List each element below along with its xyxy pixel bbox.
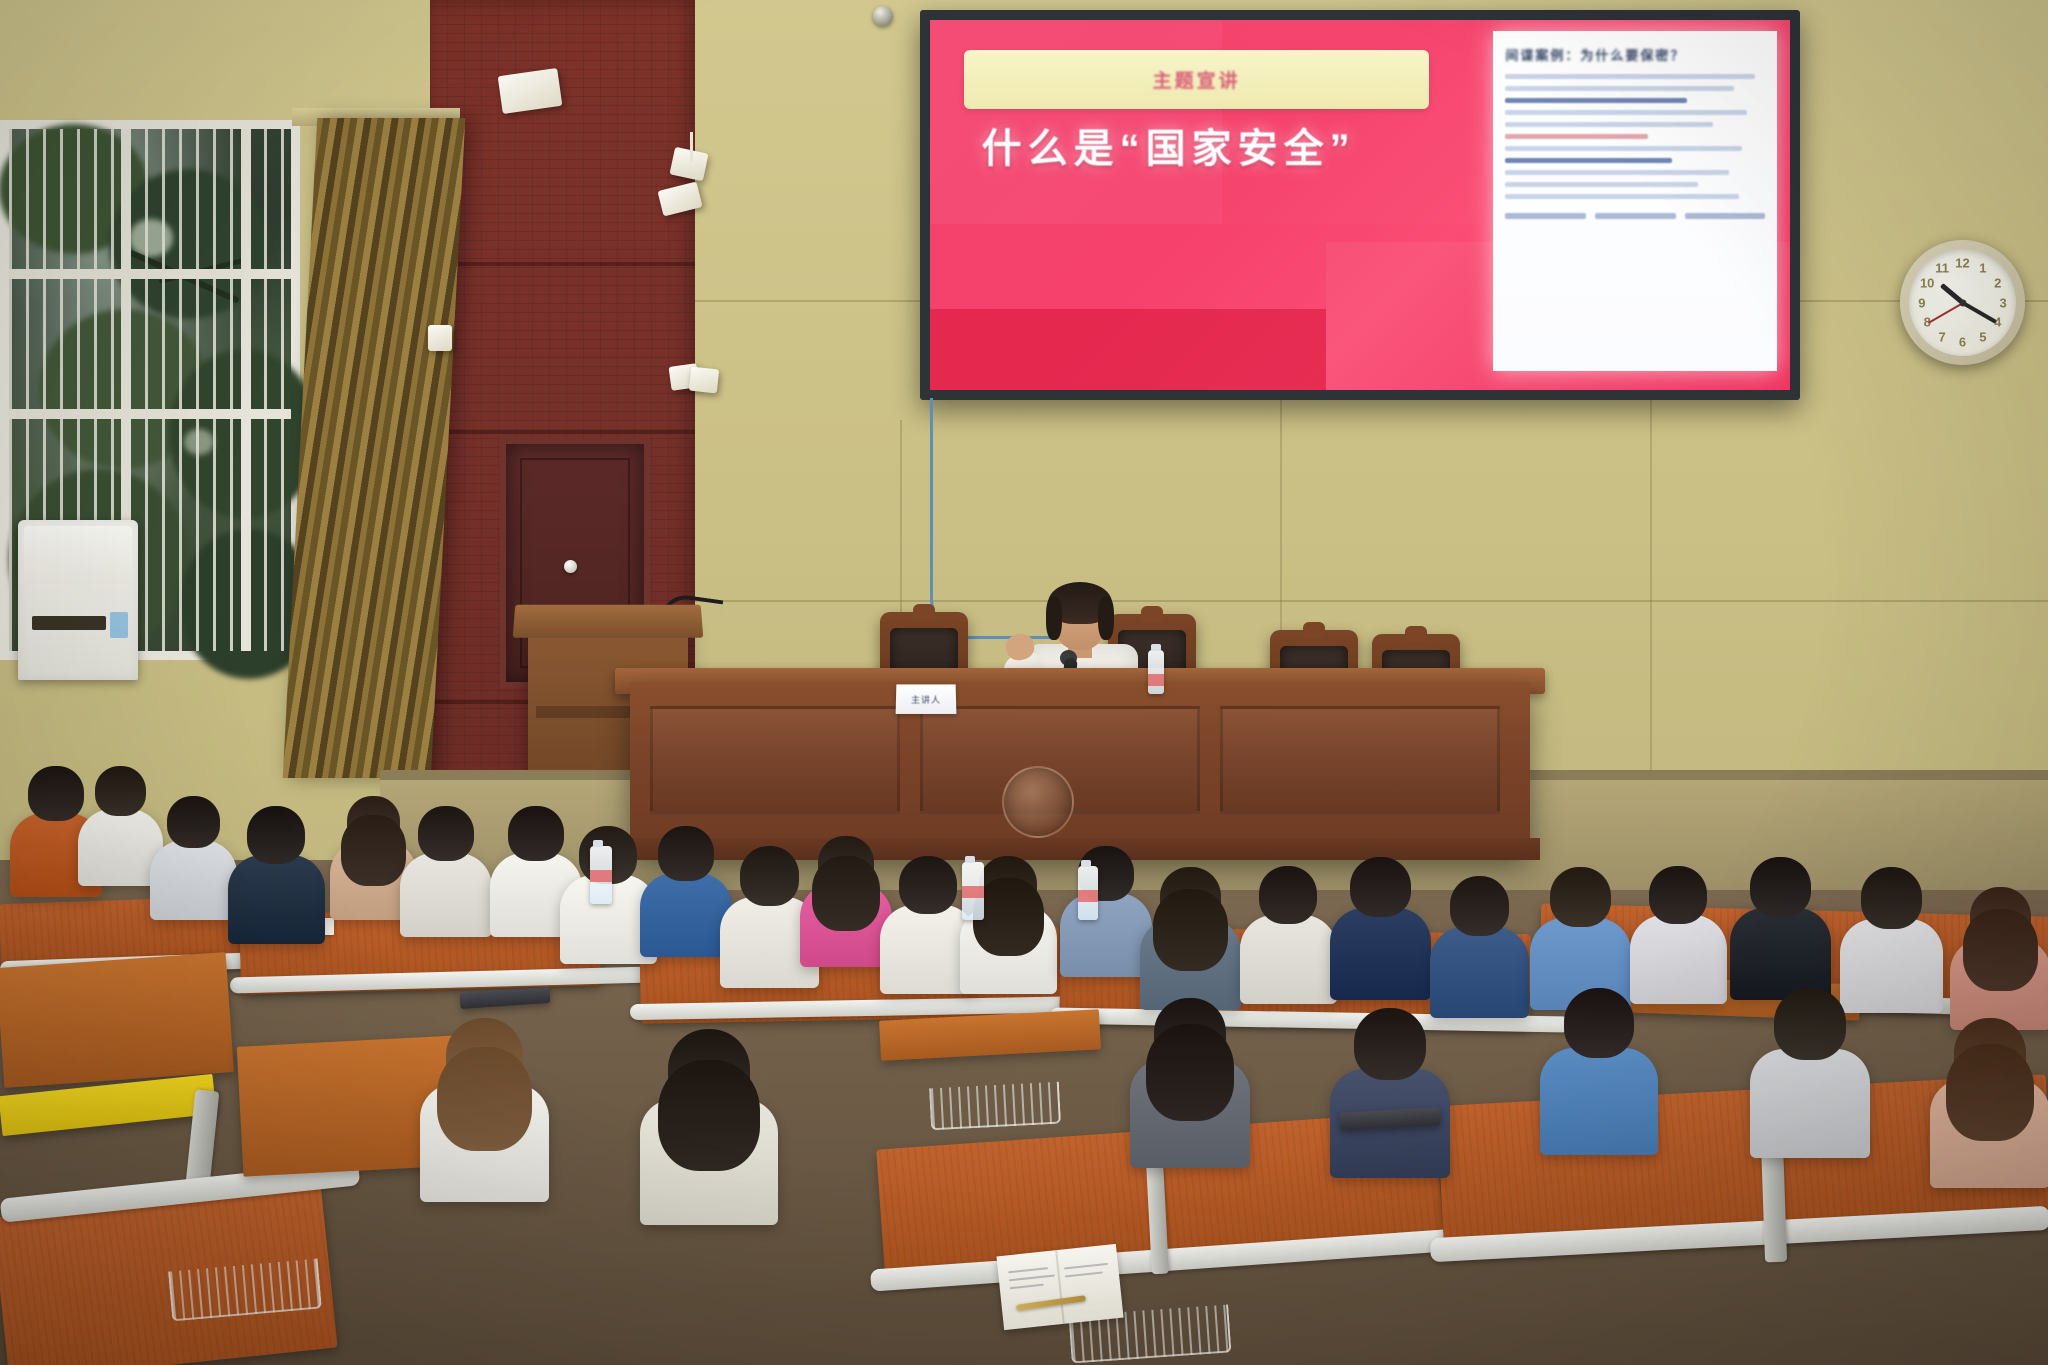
ac-vent bbox=[32, 616, 106, 630]
document-panel-footer bbox=[1505, 213, 1765, 219]
student-long-hair bbox=[1146, 1024, 1235, 1121]
student bbox=[1530, 860, 1631, 992]
window-mullion bbox=[241, 129, 251, 651]
student bbox=[640, 820, 732, 940]
dome-camera-icon bbox=[873, 6, 893, 26]
spot-light-stem bbox=[690, 132, 693, 162]
student bbox=[1130, 990, 1250, 1146]
student bbox=[228, 800, 325, 926]
student bbox=[1930, 1010, 2048, 1166]
student bbox=[1750, 980, 1870, 1136]
student bbox=[1540, 980, 1658, 1134]
student-head bbox=[1350, 857, 1411, 918]
fold-desk bbox=[0, 952, 234, 1088]
student bbox=[1630, 860, 1727, 986]
lectern-top bbox=[513, 605, 704, 638]
ac-top-panel bbox=[24, 526, 132, 584]
student bbox=[1140, 860, 1241, 992]
student-head bbox=[1774, 988, 1846, 1060]
student-torso bbox=[640, 873, 732, 957]
window-mullion bbox=[9, 409, 291, 419]
student-torso bbox=[228, 855, 325, 943]
student-torso bbox=[1060, 893, 1152, 977]
student-head bbox=[658, 826, 713, 881]
student bbox=[1730, 850, 1831, 982]
document-panel-heading: 间谍案例：为什么要保密？ bbox=[1505, 45, 1765, 64]
student-head bbox=[1750, 857, 1811, 918]
student bbox=[1950, 880, 2048, 1012]
clock-center-pin bbox=[1959, 299, 1966, 306]
clock-face: 12 1 2 3 4 5 6 7 8 9 10 11 bbox=[1909, 249, 2016, 356]
student bbox=[800, 830, 892, 950]
floor-air-conditioner bbox=[18, 520, 138, 680]
student-long-hair bbox=[341, 815, 406, 886]
speaker-nameplate: 主讲人 bbox=[896, 684, 957, 714]
student bbox=[1240, 860, 1337, 986]
wall-speaker bbox=[689, 367, 719, 394]
slide-ribbon-text: 主题宣讲 bbox=[1153, 66, 1241, 93]
student-head bbox=[1259, 866, 1317, 924]
student-head bbox=[1861, 867, 1923, 929]
water-bottle[interactable] bbox=[1078, 866, 1098, 920]
student-torso bbox=[400, 853, 492, 937]
ac-label bbox=[110, 612, 128, 638]
under-seat-basket bbox=[929, 1082, 1061, 1131]
slide-ribbon: 主题宣讲 bbox=[964, 50, 1428, 109]
water-bottle[interactable] bbox=[1148, 650, 1164, 694]
student-head bbox=[1649, 866, 1707, 924]
student-long-hair bbox=[1153, 889, 1228, 971]
student-head bbox=[28, 766, 83, 821]
student bbox=[400, 800, 492, 920]
student bbox=[1060, 840, 1152, 960]
water-bottle[interactable] bbox=[962, 862, 984, 920]
student bbox=[1330, 850, 1431, 982]
student-torso bbox=[1330, 908, 1431, 1000]
student bbox=[420, 1010, 549, 1178]
student-long-hair bbox=[658, 1060, 760, 1172]
slide-document-panel: 间谍案例：为什么要保密？ bbox=[1493, 31, 1777, 371]
student bbox=[1330, 1000, 1450, 1156]
clock-second-hand bbox=[1927, 302, 1963, 324]
door-knob-icon[interactable] bbox=[564, 560, 577, 573]
brick-band bbox=[430, 430, 695, 434]
brick-band bbox=[430, 262, 695, 266]
student-long-hair bbox=[1946, 1044, 2035, 1141]
head-table bbox=[630, 682, 1530, 852]
student-head bbox=[1450, 876, 1510, 936]
student-torso bbox=[1240, 915, 1337, 1003]
student-long-hair bbox=[812, 856, 880, 930]
student-head bbox=[740, 846, 800, 906]
student-head bbox=[1564, 988, 1635, 1059]
student-head bbox=[167, 796, 219, 848]
slide-title: 什么是“国家安全” bbox=[982, 116, 1356, 174]
student-torso bbox=[1540, 1048, 1658, 1156]
lecture-hall-photo: 主题宣讲 什么是“国家安全” 间谍案例：为什么要保密？ bbox=[0, 0, 2048, 1365]
student-long-hair bbox=[1963, 909, 2038, 991]
student-head bbox=[1354, 1008, 1426, 1080]
projection-screen: 主题宣讲 什么是“国家安全” 间谍案例：为什么要保密？ bbox=[920, 10, 1800, 400]
projector-cable bbox=[930, 398, 1000, 638]
student-head bbox=[247, 806, 305, 864]
student bbox=[150, 790, 237, 904]
table-emblem-icon bbox=[1002, 766, 1074, 838]
student-head bbox=[418, 806, 473, 861]
student bbox=[1840, 860, 1943, 994]
clock-minute-hand bbox=[1962, 301, 1997, 323]
student bbox=[640, 1020, 778, 1200]
open-notebook[interactable] bbox=[996, 1244, 1123, 1330]
student bbox=[1430, 870, 1529, 1000]
student-torso bbox=[150, 840, 237, 920]
window-mullion bbox=[9, 269, 291, 279]
wall-clock: 12 1 2 3 4 5 6 7 8 9 10 11 bbox=[1900, 240, 2025, 365]
water-bottle[interactable] bbox=[590, 846, 612, 904]
student-head bbox=[899, 856, 957, 914]
student-torso bbox=[1750, 1049, 1870, 1158]
projection-screen-surface: 主题宣讲 什么是“国家安全” 间谍案例：为什么要保密？ bbox=[930, 20, 1790, 390]
wall-seam bbox=[695, 600, 2048, 602]
student-head bbox=[508, 806, 563, 861]
nameplate-text: 主讲人 bbox=[911, 693, 941, 706]
wall-speaker bbox=[428, 325, 452, 351]
student-long-hair bbox=[437, 1047, 532, 1151]
student-head bbox=[95, 766, 146, 817]
student-head bbox=[1550, 867, 1611, 928]
